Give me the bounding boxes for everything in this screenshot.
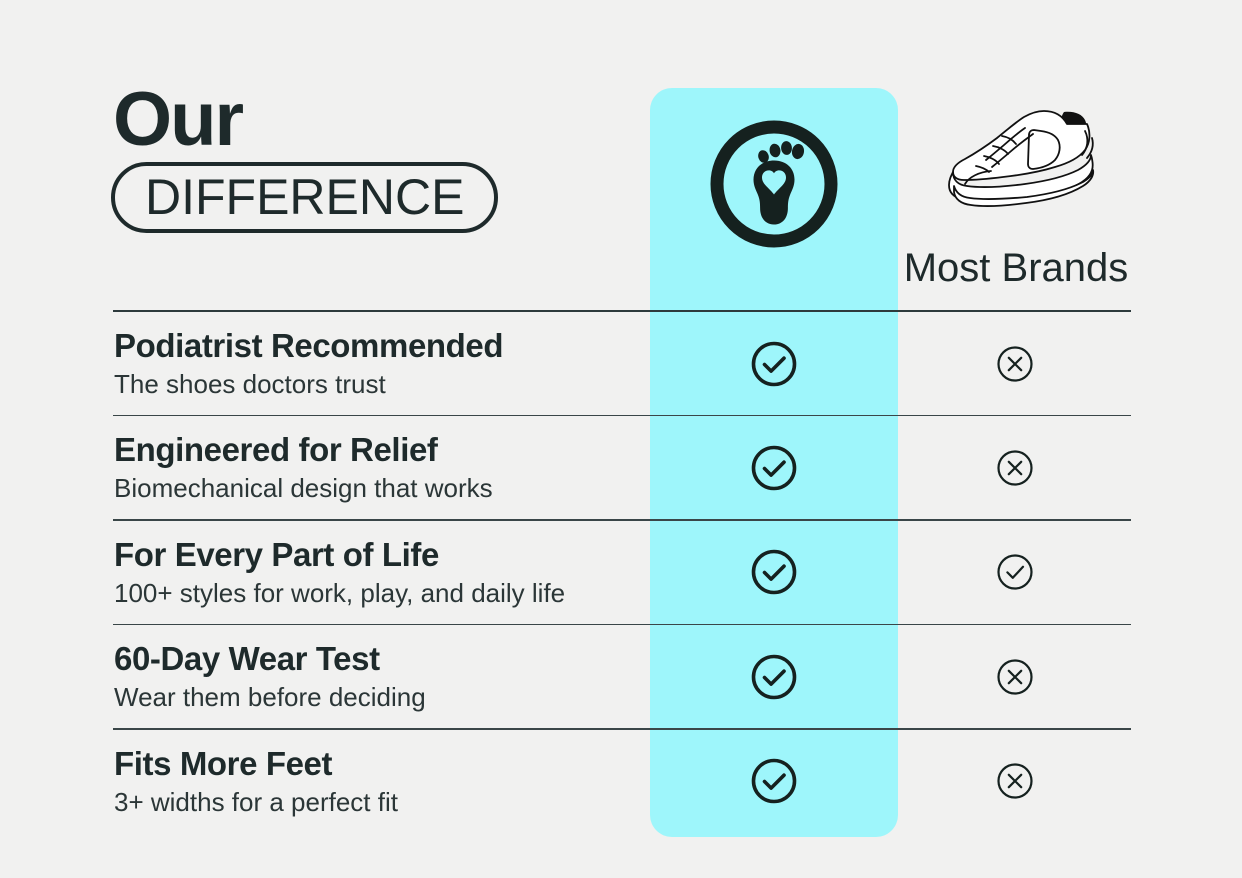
row-brand-cell bbox=[650, 340, 898, 388]
row-brand-cell bbox=[650, 548, 898, 596]
footprint-in-circle-icon bbox=[706, 116, 842, 252]
comparison-table: Podiatrist Recommended The shoes doctors… bbox=[113, 310, 1131, 833]
page-title-line1: Our bbox=[113, 84, 541, 156]
row-competitor-cell bbox=[898, 552, 1131, 592]
row-title: 60-Day Wear Test bbox=[114, 639, 650, 679]
x-circle-icon bbox=[995, 344, 1035, 384]
table-row: 60-Day Wear Test Wear them before decidi… bbox=[113, 625, 1131, 728]
x-circle-icon bbox=[995, 761, 1035, 801]
row-competitor-cell bbox=[898, 344, 1131, 384]
comparison-infographic: Our DIFFERENCE bbox=[0, 0, 1242, 878]
table-row: Podiatrist Recommended The shoes doctors… bbox=[113, 312, 1131, 415]
competitor-column-label: Most Brands bbox=[898, 244, 1134, 292]
row-feature-text: Fits More Feet 3+ widths for a perfect f… bbox=[113, 744, 650, 819]
table-row: For Every Part of Life 100+ styles for w… bbox=[113, 521, 1131, 624]
x-circle-icon bbox=[995, 448, 1035, 488]
row-competitor-cell bbox=[898, 761, 1131, 801]
row-title: Engineered for Relief bbox=[114, 430, 650, 470]
row-subtitle: The shoes doctors trust bbox=[114, 368, 650, 401]
row-feature-text: Podiatrist Recommended The shoes doctors… bbox=[113, 326, 650, 401]
check-circle-icon bbox=[750, 444, 798, 492]
row-subtitle: 100+ styles for work, play, and daily li… bbox=[114, 577, 650, 610]
table-row: Fits More Feet 3+ widths for a perfect f… bbox=[113, 730, 1131, 833]
check-circle-icon bbox=[750, 757, 798, 805]
check-circle-icon bbox=[750, 340, 798, 388]
row-brand-cell bbox=[650, 757, 898, 805]
row-feature-text: 60-Day Wear Test Wear them before decidi… bbox=[113, 639, 650, 714]
row-subtitle: 3+ widths for a perfect fit bbox=[114, 786, 650, 819]
page-title: Our DIFFERENCE bbox=[111, 84, 541, 233]
row-brand-cell bbox=[650, 653, 898, 701]
check-circle-icon bbox=[750, 653, 798, 701]
page-title-pill: DIFFERENCE bbox=[111, 162, 498, 233]
header: Our DIFFERENCE bbox=[0, 0, 1242, 310]
check-circle-icon bbox=[995, 552, 1035, 592]
row-brand-cell bbox=[650, 444, 898, 492]
row-subtitle: Biomechanical design that works bbox=[114, 472, 650, 505]
row-feature-text: Engineered for Relief Biomechanical desi… bbox=[113, 430, 650, 505]
row-title: Fits More Feet bbox=[114, 744, 650, 784]
table-row: Engineered for Relief Biomechanical desi… bbox=[113, 416, 1131, 519]
row-competitor-cell bbox=[898, 448, 1131, 488]
x-circle-icon bbox=[995, 657, 1035, 697]
sneaker-illustration bbox=[945, 98, 1125, 222]
check-circle-icon bbox=[750, 548, 798, 596]
row-title: For Every Part of Life bbox=[114, 535, 650, 575]
row-title: Podiatrist Recommended bbox=[114, 326, 650, 366]
row-subtitle: Wear them before deciding bbox=[114, 681, 650, 714]
page-title-line2: DIFFERENCE bbox=[145, 172, 464, 222]
row-competitor-cell bbox=[898, 657, 1131, 697]
row-feature-text: For Every Part of Life 100+ styles for w… bbox=[113, 535, 650, 610]
